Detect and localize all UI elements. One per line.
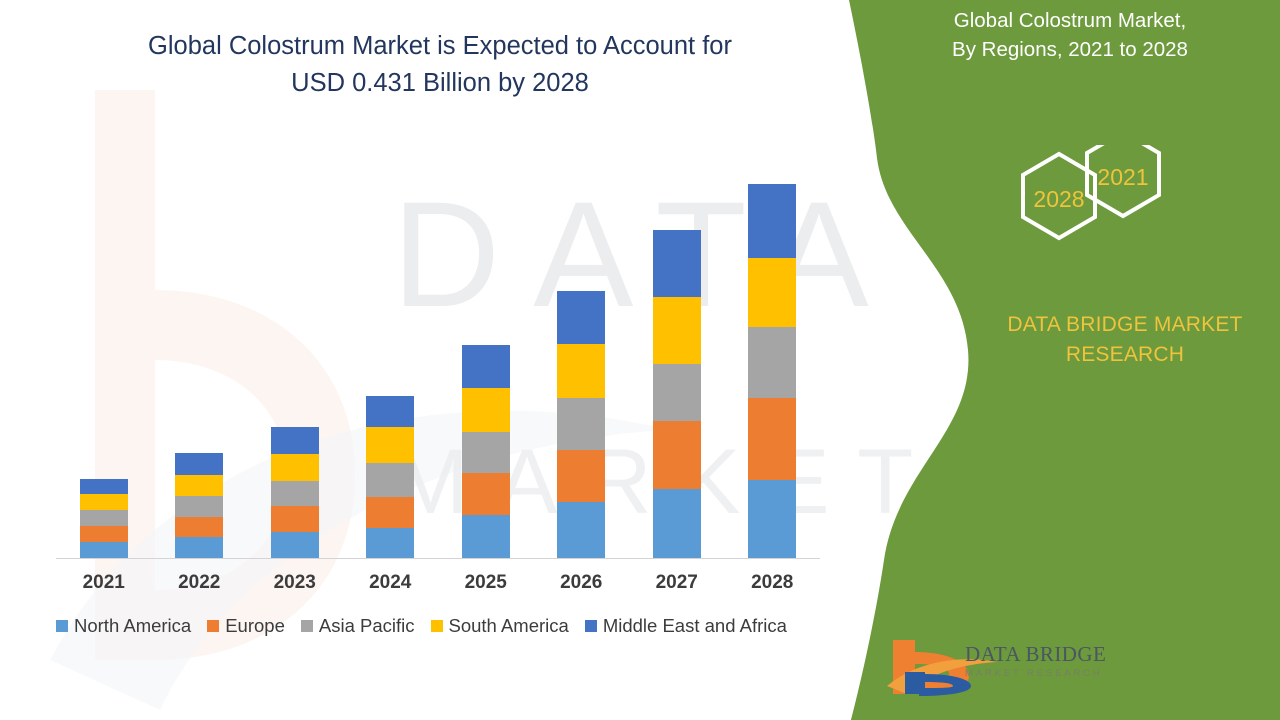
bar-segment xyxy=(748,480,796,558)
legend-label: North America xyxy=(74,615,191,637)
panel-brand: DATA BRIDGE MARKET RESEARCH xyxy=(960,310,1280,370)
bar-segment xyxy=(653,364,701,421)
bar-segment xyxy=(175,496,223,517)
bar-segment xyxy=(653,297,701,364)
x-tick-label: 2021 xyxy=(56,572,152,594)
legend-item[interactable]: South America xyxy=(431,615,569,637)
bar-segment xyxy=(748,398,796,480)
bar-segment xyxy=(557,450,605,502)
panel-brand-line1: DATA BRIDGE MARKET xyxy=(960,310,1280,340)
bar-segment xyxy=(175,537,223,558)
bar-segment xyxy=(80,494,128,510)
stacked-bar[interactable] xyxy=(80,479,128,558)
bar-segment xyxy=(748,258,796,327)
bar-segment xyxy=(653,230,701,297)
bar-segment xyxy=(748,327,796,398)
bar-segment xyxy=(271,427,319,454)
stacked-bar[interactable] xyxy=(271,427,319,558)
legend-item[interactable]: Asia Pacific xyxy=(301,615,415,637)
x-axis-tick-labels: 20212022202320242025202620272028 xyxy=(56,572,820,602)
legend-swatch-icon xyxy=(431,620,443,632)
bar-column xyxy=(152,120,248,558)
hexagon-2021-label: 2021 xyxy=(1097,164,1148,190)
legend-label: South America xyxy=(449,615,569,637)
hexagon-2028-label: 2028 xyxy=(1033,186,1084,212)
bar-column xyxy=(343,120,439,558)
stacked-bar[interactable] xyxy=(366,396,414,558)
stacked-bar[interactable] xyxy=(462,345,510,558)
chart-legend: North AmericaEuropeAsia PacificSouth Ame… xyxy=(56,615,846,637)
bar-segment xyxy=(366,528,414,558)
logo-wordmark: DATA BRIDGE xyxy=(965,642,1115,667)
bar-column xyxy=(534,120,630,558)
stacked-bar[interactable] xyxy=(557,291,605,558)
bar-segment xyxy=(653,489,701,558)
bar-column xyxy=(247,120,343,558)
bar-segment xyxy=(366,463,414,497)
bar-segment xyxy=(80,526,128,542)
bar-segment xyxy=(175,517,223,537)
bar-segment xyxy=(557,344,605,398)
bar-segment xyxy=(80,479,128,494)
x-tick-label: 2025 xyxy=(438,572,534,594)
bar-segment xyxy=(653,421,701,489)
legend-item[interactable]: Europe xyxy=(207,615,285,637)
x-tick-label: 2023 xyxy=(247,572,343,594)
bar-segment xyxy=(366,427,414,463)
bar-segment xyxy=(748,184,796,258)
bar-segment xyxy=(175,475,223,496)
bar-column xyxy=(438,120,534,558)
bar-segment xyxy=(462,473,510,515)
logo-subtitle: MARKET RESEARCH xyxy=(965,668,1115,679)
bar-segment xyxy=(175,453,223,475)
legend-swatch-icon xyxy=(207,620,219,632)
x-tick-label: 2024 xyxy=(343,572,439,594)
panel-heading-line1: Global Colostrum Market, xyxy=(905,6,1235,35)
bar-column xyxy=(56,120,152,558)
chart-plot-area xyxy=(56,120,820,558)
bar-column xyxy=(725,120,821,558)
bar-segment xyxy=(366,396,414,427)
bar-column xyxy=(629,120,725,558)
bar-segment xyxy=(462,432,510,473)
stacked-bar[interactable] xyxy=(175,453,223,558)
legend-label: Asia Pacific xyxy=(319,615,415,637)
stacked-bar-chart: 20212022202320242025202620272028 North A… xyxy=(0,0,860,720)
bar-segment xyxy=(462,345,510,388)
legend-item[interactable]: North America xyxy=(56,615,191,637)
panel-heading: Global Colostrum Market, By Regions, 202… xyxy=(905,6,1235,64)
bar-segment xyxy=(557,291,605,344)
bar-segment xyxy=(271,506,319,532)
slide-canvas: DATA BRIDGE MARKET RESEARCH Global Colos… xyxy=(0,0,1280,720)
bar-segment xyxy=(80,542,128,558)
bar-segment xyxy=(366,497,414,528)
hexagon-badges: 2028 2021 xyxy=(975,145,1195,285)
bar-segment xyxy=(462,388,510,432)
bar-segment xyxy=(271,481,319,506)
panel-heading-line2: By Regions, 2021 to 2028 xyxy=(905,35,1235,64)
bar-segment xyxy=(271,454,319,481)
bar-segment xyxy=(557,502,605,558)
x-axis-line xyxy=(56,558,820,559)
legend-swatch-icon xyxy=(301,620,313,632)
bar-segment xyxy=(271,532,319,558)
x-tick-label: 2022 xyxy=(152,572,248,594)
bar-segment xyxy=(462,515,510,558)
bar-segment xyxy=(557,398,605,450)
legend-label: Europe xyxy=(225,615,285,637)
legend-swatch-icon xyxy=(585,620,597,632)
x-tick-label: 2028 xyxy=(725,572,821,594)
stacked-bar[interactable] xyxy=(653,230,701,558)
x-tick-label: 2027 xyxy=(629,572,725,594)
panel-brand-line2: RESEARCH xyxy=(960,340,1280,370)
x-tick-label: 2026 xyxy=(534,572,630,594)
bar-segment xyxy=(80,510,128,526)
stacked-bar[interactable] xyxy=(748,184,796,558)
legend-item[interactable]: Middle East and Africa xyxy=(585,615,787,637)
legend-label: Middle East and Africa xyxy=(603,615,787,637)
legend-swatch-icon xyxy=(56,620,68,632)
